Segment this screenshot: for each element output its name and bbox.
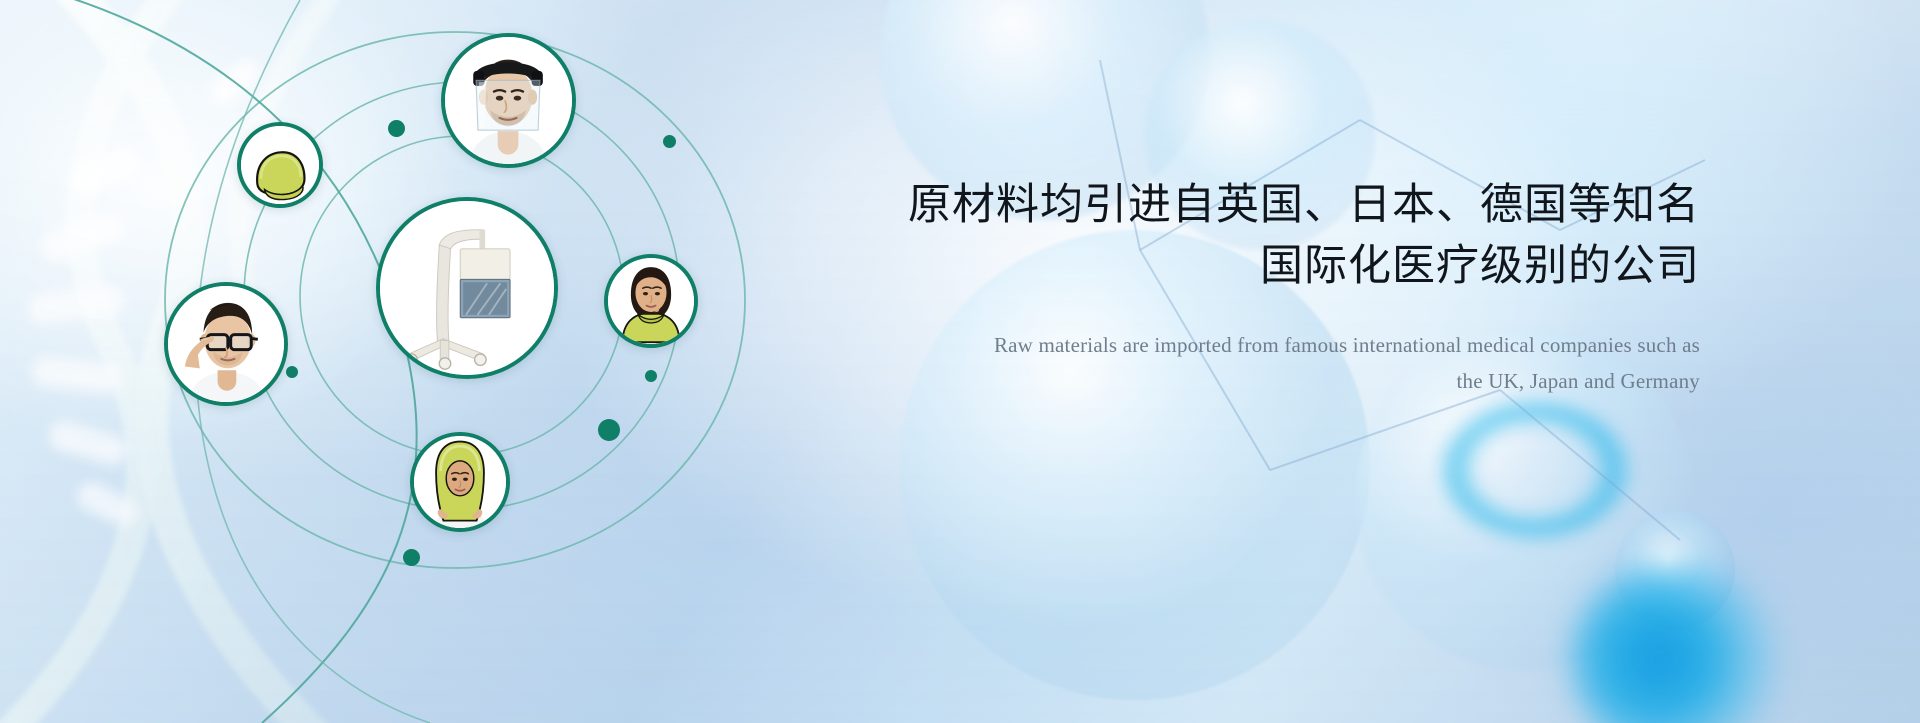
hero-banner: 原材料均引进自英国、日本、德国等知名 国际化医疗级别的公司 Raw materi… <box>0 0 1920 723</box>
lead-glasses-man-image <box>168 286 284 402</box>
node-thyroid-collar-woman[interactable] <box>604 254 698 348</box>
node-lead-cap-product[interactable] <box>237 122 323 208</box>
orbit-dot-5 <box>598 419 620 441</box>
mobile-x-ray-barrier-image <box>380 201 554 375</box>
banner-copy: 原材料均引进自英国、日本、德国等知名 国际化医疗级别的公司 Raw materi… <box>900 175 1700 399</box>
x-ray-face-shield-man-image <box>445 37 572 164</box>
lead-cap-product-image <box>241 126 319 204</box>
node-protective-hood-woman[interactable] <box>410 432 510 532</box>
orbit-diagram <box>0 0 900 723</box>
protective-hood-woman-image <box>414 436 506 528</box>
node-x-ray-face-shield-man[interactable] <box>441 33 576 168</box>
subtitle-line-1: Raw materials are imported from famous i… <box>900 327 1700 363</box>
orbit-dot-4 <box>645 370 657 382</box>
thyroid-collar-woman-image <box>608 258 694 344</box>
subtitle: Raw materials are imported from famous i… <box>900 327 1700 399</box>
headline-line-2: 国际化医疗级别的公司 <box>900 236 1700 297</box>
node-lead-glasses-man[interactable] <box>164 282 288 406</box>
orbit-dot-1 <box>388 120 405 137</box>
orbit-dot-3 <box>286 366 298 378</box>
node-mobile-x-ray-barrier[interactable] <box>376 197 558 379</box>
subtitle-line-2: the UK, Japan and Germany <box>900 363 1700 399</box>
headline-line-1: 原材料均引进自英国、日本、德国等知名 <box>900 175 1700 236</box>
orbit-dot-6 <box>403 549 420 566</box>
orbit-dot-2 <box>663 135 676 148</box>
